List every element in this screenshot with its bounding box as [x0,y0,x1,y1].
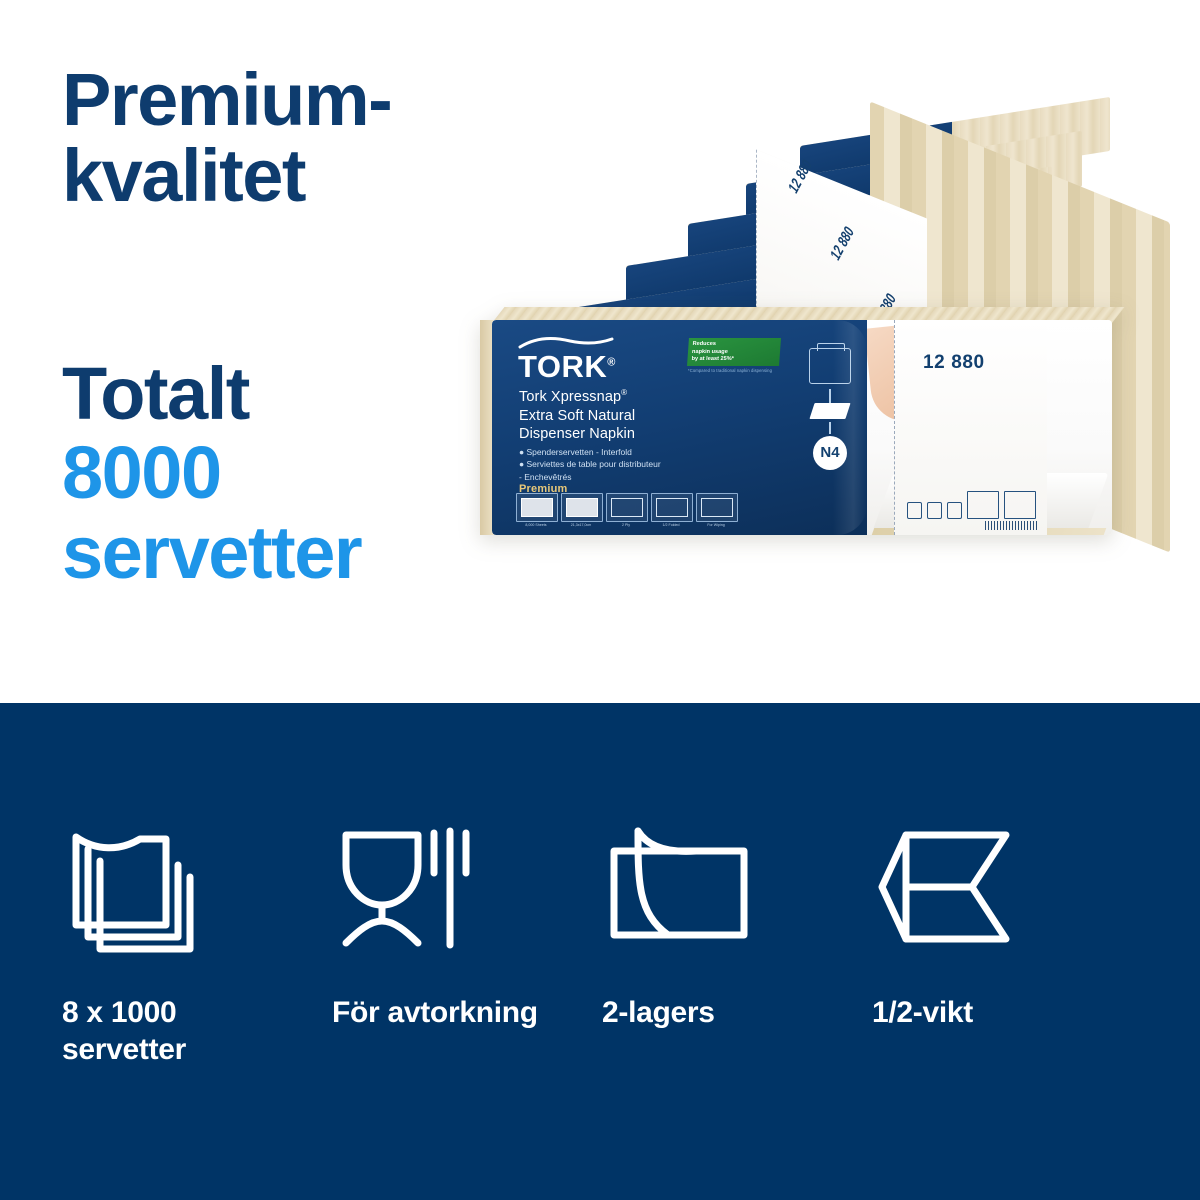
connector-line [829,389,830,403]
eco-icon [927,502,942,519]
ecolabel-logo-icon [1004,491,1036,519]
fsc-logo-icon [967,491,999,519]
feature-label: 8 x 1000 servetter [62,995,314,1068]
two-ply-layers-icon [602,821,854,971]
certification-marks [907,491,1036,519]
tork-logo: TORK® [518,336,668,382]
product-marketing-panel: Premium- kvalitet Totalt 8000 servetter [0,0,1200,1200]
feature-item: 8 x 1000 servetter [62,821,332,1068]
system-badge-n4: N4 [813,436,847,470]
sheets-icon [516,493,558,522]
ply-icon [606,493,648,522]
product-code: 12 880 [923,352,985,374]
recycling-icon [907,502,922,519]
spec-cell: 21,3x17,0cm [561,493,601,528]
dispenser-system-group: N4 [802,348,858,470]
tork-swoosh-icon [518,336,614,350]
feature-item: För avtorkning [332,821,602,1068]
hero-package: TORK® Tork Xpressnap® Extra Soft Natural… [492,320,1112,535]
package-body: TORK® Tork Xpressnap® Extra Soft Natural… [492,320,1112,535]
green-claim-badge: Reduces napkin usage by at least 25%* [687,338,781,366]
napkin-stack-icon [62,821,314,971]
total-count: 8000 servetter [62,433,522,593]
spec-cell: 2 Ply [606,493,646,528]
spec-cell: 1/2 Folded [651,493,691,528]
package-spec-icons: 8,000 Sheets 21,3x17,0cm 2 Ply [516,493,736,528]
dispenser-icon [809,348,851,384]
package-blue-label: TORK® Tork Xpressnap® Extra Soft Natural… [492,320,867,535]
compostable-icon [947,502,962,519]
product-code-label: 12 880 [827,222,857,263]
headline-block: Premium- kvalitet [62,62,492,214]
barcode [985,521,1039,530]
connector-line [829,422,830,434]
feature-band: 8 x 1000 servetter För avt [0,703,1200,1200]
fold-icon [651,493,693,522]
feature-label: För avtorkning [332,995,584,1032]
feature-item: 2-lagers [602,821,872,1068]
wiping-icon [696,493,738,522]
feature-label: 1/2-vikt [872,995,1124,1032]
feature-item: 1/2-vikt [872,821,1142,1068]
spec-cell: For Wiping [696,493,736,528]
package-code-panel: 12 880 [894,320,1047,535]
half-fold-icon [872,821,1124,971]
package-product-name: Tork Xpressnap® Extra Soft Natural Dispe… [519,388,635,444]
total-label: Totalt [62,355,522,433]
package-language-bullets: ● Spenderservetten - Interfold ● Serviet… [519,446,661,483]
feature-label: 2-lagers [602,995,854,1032]
feature-list: 8 x 1000 servetter För avt [62,821,1142,1068]
glass-fork-food-safe-icon [332,821,584,971]
green-claim-footnote: *Compared to traditional napkin dispensi… [688,368,798,373]
tork-wordmark: TORK® [518,351,668,382]
green-claim-text: Reduces napkin usage by at least 25%* [691,341,777,364]
spec-cell: 8,000 Sheets [516,493,556,528]
dimensions-icon [561,493,603,522]
total-block: Totalt 8000 servetter [62,355,522,593]
top-section: Premium- kvalitet Totalt 8000 servetter [0,0,1200,703]
page-title: Premium- kvalitet [62,62,492,214]
product-stack-image: 12 880 12 880 12 880 TORK® [470,140,1170,570]
napkin-icon [809,403,850,419]
